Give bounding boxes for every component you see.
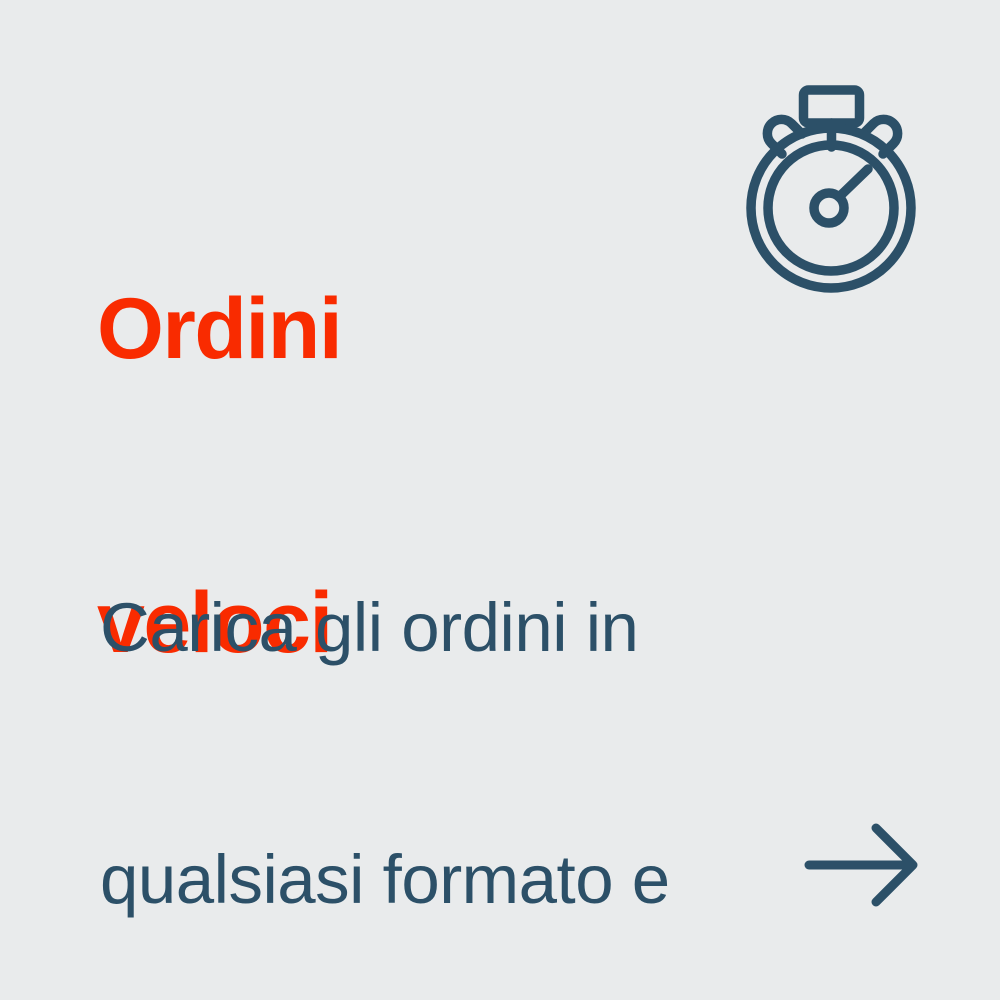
stopwatch-icon xyxy=(735,75,930,300)
arrow-right-icon[interactable] xyxy=(800,815,925,915)
feature-card[interactable]: Ordini veloci Carica gli ordini in quals… xyxy=(0,0,1000,1000)
card-title-line-1: Ordini xyxy=(97,280,697,378)
card-description-line-1: Carica gli ordini in xyxy=(100,586,720,670)
card-description: Carica gli ordini in qualsiasi formato e… xyxy=(100,418,720,1000)
card-description-line-2: qualsiasi formato e xyxy=(100,838,720,922)
